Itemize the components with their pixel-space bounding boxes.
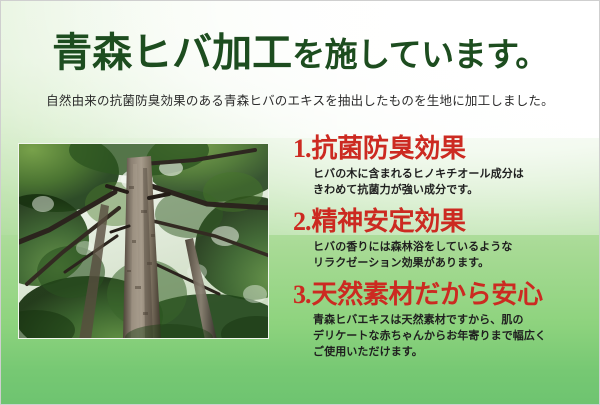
page-subtitle: 自然由来の抗菌防臭効果のある青森ヒバのエキスを抽出したものを生地に加工しました。 [1, 90, 599, 109]
benefit-title-1: 抗菌防臭効果 [312, 134, 466, 163]
benefit-number-2: 2. [293, 207, 311, 236]
benefit-description-1-line-1: ヒバの木に含まれるヒノキチオール成分は [313, 167, 593, 183]
benefit-heading-3: 3.天然素材だから安心 [293, 281, 593, 309]
benefit-description-1: ヒバの木に含まれるヒノキチオール成分は きわめて抗菌力が強い成分です。 [313, 167, 593, 199]
benefit-title-2: 精神安定効果 [312, 207, 466, 236]
benefit-heading-2: 2.精神安定効果 [293, 208, 593, 236]
benefit-description-3-line-3: ご使用いただけます。 [313, 345, 593, 361]
page-title-tail: を施しています。 [292, 38, 548, 74]
benefit-description-1-line-2: きわめて抗菌力が強い成分です。 [313, 183, 593, 199]
page-title-main: 青森ヒバ加工 [52, 30, 292, 75]
forest-photo-image [19, 144, 268, 338]
forest-photo [18, 143, 269, 339]
benefit-number-3: 3. [293, 280, 311, 309]
benefit-item-3: 3.天然素材だから安心 青森ヒバエキスは天然素材ですから、肌の デリケートな赤ち… [293, 281, 593, 361]
benefit-title-3: 天然素材だから安心 [312, 280, 543, 309]
benefit-description-2-line-1: ヒバの香りには森林浴をしているような [313, 240, 593, 256]
benefit-description-3: 青森ヒバエキスは天然素材ですから、肌の デリケートな赤ちゃんからお年寄りまで幅広… [313, 313, 593, 361]
benefit-description-3-line-2: デリケートな赤ちゃんからお年寄りまで幅広く [313, 329, 593, 345]
benefit-description-2-line-2: リラクゼーション効果があります。 [313, 256, 593, 272]
benefit-item-1: 1.抗菌防臭効果 ヒバの木に含まれるヒノキチオール成分は きわめて抗菌力が強い成… [293, 135, 593, 199]
benefit-number-1: 1. [293, 134, 311, 163]
benefit-description-2: ヒバの香りには森林浴をしているような リラクゼーション効果があります。 [313, 240, 593, 272]
benefits-list: 1.抗菌防臭効果 ヒバの木に含まれるヒノキチオール成分は きわめて抗菌力が強い成… [293, 135, 593, 361]
hiba-promo-banner: 青森ヒバ加工を施しています。 自然由来の抗菌防臭効果のある青森ヒバのエキスを抽出… [0, 0, 600, 405]
benefit-item-2: 2.精神安定効果 ヒバの香りには森林浴をしているような リラクゼーション効果があ… [293, 208, 593, 272]
benefit-heading-1: 1.抗菌防臭効果 [293, 135, 593, 163]
benefit-description-3-line-1: 青森ヒバエキスは天然素材ですから、肌の [313, 313, 593, 329]
page-title: 青森ヒバ加工を施しています。 [1, 33, 599, 73]
